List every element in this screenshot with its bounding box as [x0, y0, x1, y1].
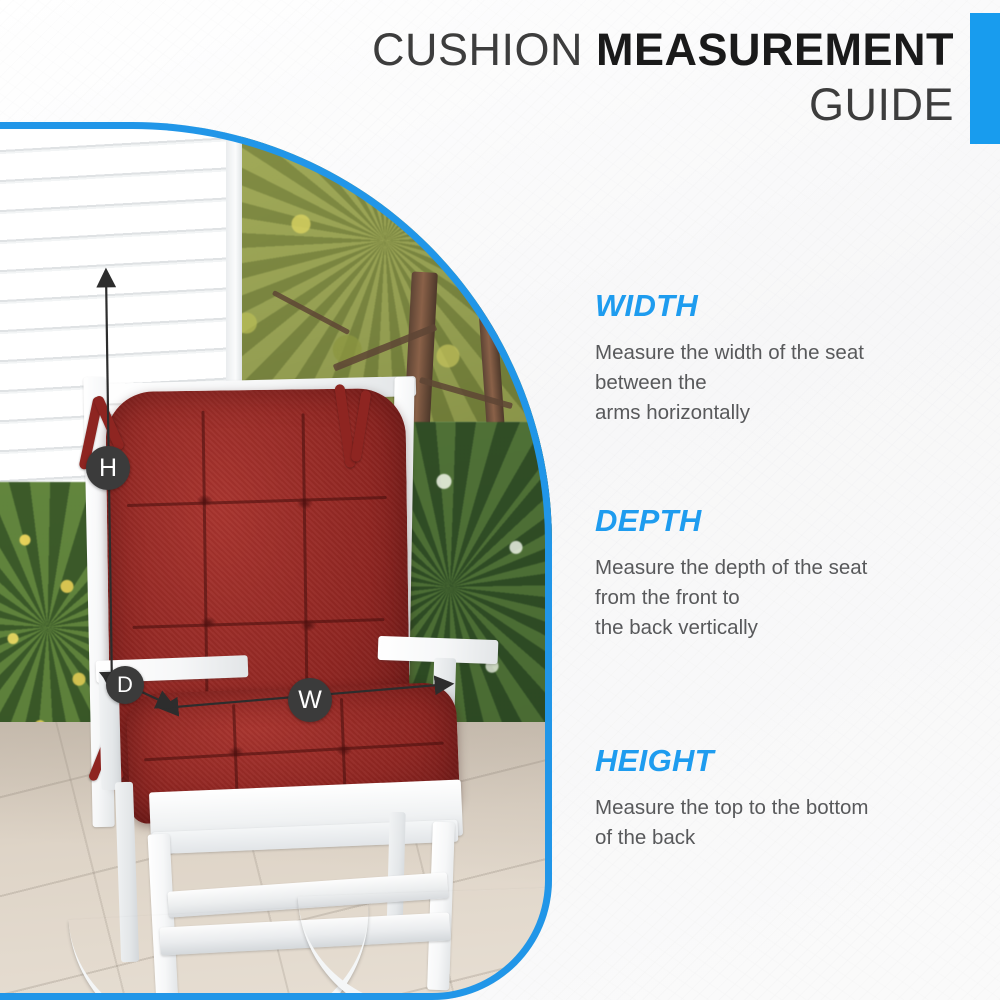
height-marker-badge: H — [86, 446, 130, 490]
width-marker-badge: W — [288, 678, 332, 722]
depth-marker-badge: D — [106, 666, 144, 704]
measurement-overlay: H W D — [0, 0, 1000, 1000]
